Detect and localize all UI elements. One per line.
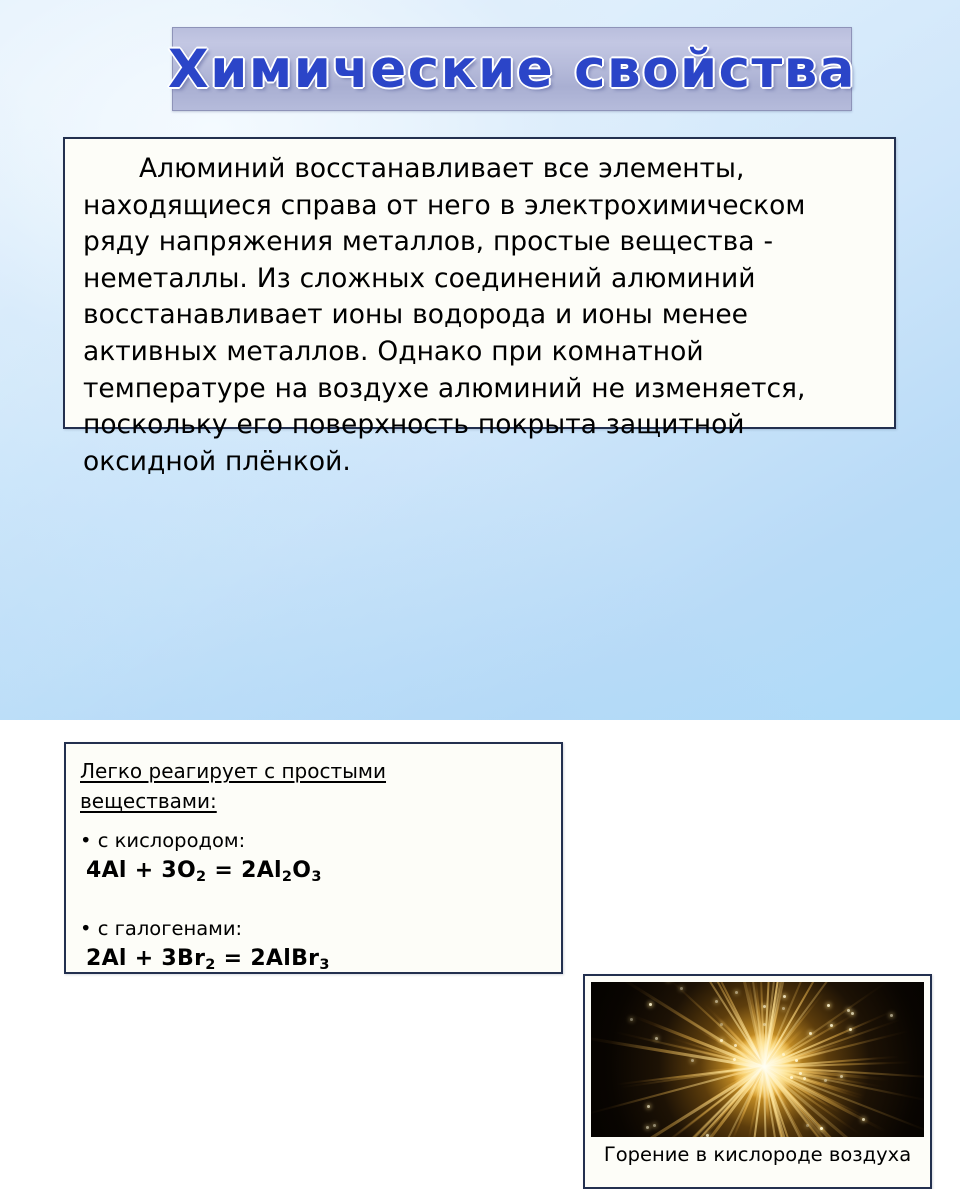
spark-point [849,1028,852,1031]
equation-oxygen: 4Al + 3O2 = 2Al2O3 [80,856,547,892]
spark-point [706,1134,709,1137]
reactions-box: Легко реагирует с простымивеществами: • … [64,742,563,974]
spacer [80,892,547,914]
spark-point [827,1004,830,1007]
spark-point [795,1059,798,1062]
main-paragraph: Алюминий восстанавливает все элементы, н… [83,151,878,480]
spark-point [691,1059,694,1062]
slide-title-banner: Химические свойства [172,27,852,111]
reactions-heading: Легко реагирует с простымивеществами: [80,756,547,816]
spark-point [715,1000,718,1003]
spark-point [799,1072,802,1075]
spark-point [790,1076,793,1079]
spark-point [680,987,683,990]
spark-point [851,1012,854,1015]
reactions-heading-main: Легко реагирует с простыми [80,759,386,783]
spark-point [782,1007,785,1010]
spark-point [809,1032,812,1035]
main-text-box: Алюминий восстанавливает все элементы, н… [63,137,896,429]
spark-point [847,1009,850,1012]
spark-point [655,1037,658,1040]
spark-point [783,995,786,998]
spark-point [646,1126,649,1129]
spark-point [653,1124,656,1127]
spark-point [890,1014,893,1017]
spacer [80,816,547,826]
page-title: Химические свойства [168,39,856,100]
reactions-heading-tail: веществами: [80,786,547,816]
spark-point [824,1079,827,1082]
spark-point [720,1023,723,1026]
slide-canvas: Химические свойства Алюминий восстанавли… [0,0,960,720]
bullet-oxygen: • с кислородом: [80,826,547,856]
spark-point [647,1105,650,1108]
spark-point [763,1023,766,1026]
spark-point [735,991,738,994]
spark-point [763,1005,766,1008]
equation-halogens: 2Al + 3Br2 = 2AlBr3 [80,944,547,980]
photo-box: Горение в кислороде воздуха [583,974,932,1189]
spark-point [630,1018,633,1021]
bullet-halogens: • с галогенами: [80,914,547,944]
spark-point [649,1003,652,1006]
photo-caption: Горение в кислороде воздуха [591,1137,924,1167]
sparkler-burst-photo [591,982,924,1137]
